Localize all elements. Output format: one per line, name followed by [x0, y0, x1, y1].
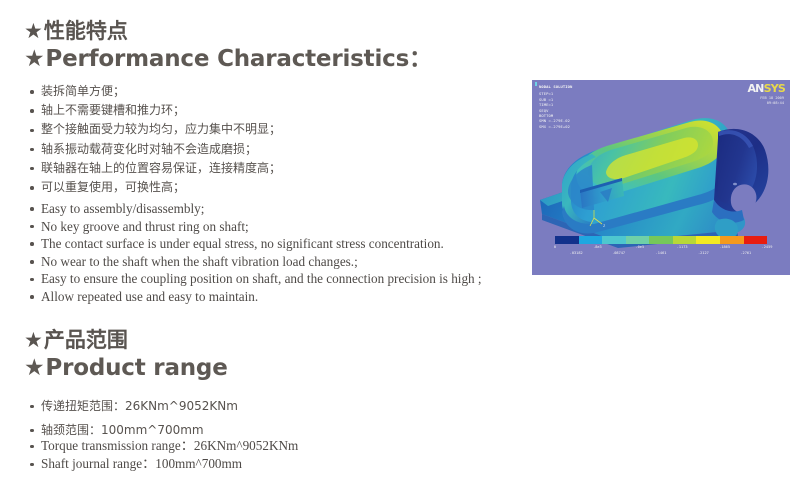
list-item: 传递扭矩范围：26KNm^9052KNm [30, 394, 238, 418]
colorbar-tick-labels: 0.8e3.0e5.1173.1865.2459.03182.08747.146… [555, 244, 767, 258]
ansys-logo-part2: SYS [764, 82, 785, 95]
bullet-dot-icon [30, 207, 34, 211]
colorbar-band [626, 236, 650, 244]
colorbar-band [579, 236, 603, 244]
list-item: 轴上不需要键槽和推力环； [30, 101, 281, 120]
section-heading-product-range: ★产品范围 ★Product range [24, 327, 228, 383]
colorbar-tick: .08747 [612, 251, 625, 255]
list-item: The contact surface is under equal stres… [30, 235, 482, 253]
list-item: 联轴器在轴上的位置容易保证，连接精度高； [30, 159, 281, 178]
bullet-dot-icon [30, 405, 34, 409]
heading-performance-en-text: Performance Characteristics： [45, 46, 431, 72]
figure-timestamp: FEB 18 2009 09:08:44 [760, 96, 784, 106]
list-item-text: The contact surface is under equal stres… [41, 236, 444, 251]
list-item: 装拆简单方便； [30, 82, 281, 101]
bullet-dot-icon [30, 278, 34, 282]
bullet-dot-icon [30, 129, 34, 133]
list-item-text: Shaft journal range：100mm^700mm [41, 456, 242, 471]
list-item-text: 轴颈范围：100mm^700mm [41, 423, 204, 437]
list-item: Easy to assembly/disassembly; [30, 200, 482, 218]
bullet-dot-icon [30, 167, 34, 171]
figure-corner-mark [535, 82, 537, 86]
list-item-text: 装拆简单方便； [41, 84, 125, 98]
list-item-text: Easy to assembly/disassembly; [41, 201, 204, 216]
colorbar-band [649, 236, 673, 244]
bullet-dot-icon [30, 463, 34, 467]
heading-product-range-cn: ★产品范围 [24, 327, 228, 353]
colorbar-band [673, 236, 697, 244]
list-item: Shaft journal range：100mm^700mm [30, 455, 298, 473]
star-icon: ★ [24, 44, 44, 74]
list-item-text: No key groove and thrust ring on shaft; [41, 219, 249, 234]
ansys-logo: ANSYS [747, 83, 785, 94]
colorbar-band [744, 236, 768, 244]
colorbar-tick: .1461 [656, 251, 667, 255]
colorbar-tick: .1865 [719, 245, 730, 249]
colorbar-band [602, 236, 626, 244]
list-item: No wear to the shaft when the shaft vibr… [30, 253, 482, 271]
list-item-text: 整个接触面受力较为均匀，应力集中不明显； [41, 122, 281, 136]
bullet-dot-icon [30, 429, 34, 433]
performance-bullets-en: Easy to assembly/disassembly; No key gro… [30, 200, 482, 306]
list-item: 轴系振动载荷变化时对轴不会造成磨损； [30, 140, 281, 159]
star-icon: ★ [24, 353, 44, 383]
colorbar-tick: .2127 [698, 251, 709, 255]
colorbar-tick: 0 [554, 245, 556, 249]
colorbar-band [555, 236, 579, 244]
bullet-dot-icon [30, 148, 34, 152]
list-item-text: 可以重复使用，可换性高； [41, 180, 185, 194]
figure-header-info: NODAL SOLUTION STEP=1 SUB =1 TIME=1 SEQV… [539, 84, 572, 129]
list-item-text: 传递扭矩范围：26KNm^9052KNm [41, 399, 238, 413]
section-heading-performance: ★性能特点 ★Performance Characteristics： [24, 18, 432, 74]
colorbar-tick: .1173 [677, 245, 688, 249]
list-item: No key groove and thrust ring on shaft; [30, 218, 482, 236]
heading-performance-cn-text: 性能特点 [44, 19, 128, 43]
figure-header-title: NODAL SOLUTION [539, 84, 572, 89]
ansys-logo-part1: AN [747, 82, 763, 95]
list-item-text: Easy to ensure the coupling position on … [41, 271, 482, 286]
bullet-dot-icon [30, 90, 34, 94]
colorbar-strip [555, 236, 767, 244]
list-item: Torque transmission range：26KNm^9052KNm [30, 437, 298, 455]
star-icon: ★ [24, 327, 43, 353]
colorbar-tick: .2459 [762, 245, 773, 249]
heading-product-range-en-text: Product range [45, 355, 227, 381]
list-item: Allow repeated use and easy to maintain. [30, 288, 482, 306]
page-root: ★性能特点 ★Performance Characteristics： 装拆简单… [0, 0, 811, 477]
colorbar-tick: .0e5 [635, 245, 644, 249]
list-item-text: 联轴器在轴上的位置容易保证，连接精度高； [41, 161, 281, 175]
list-item: 整个接触面受力较为均匀，应力集中不明显； [30, 120, 281, 139]
bullet-dot-icon [30, 295, 34, 299]
bullet-dot-icon [30, 242, 34, 246]
list-item: 可以重复使用，可换性高； [30, 178, 281, 197]
bullet-dot-icon [30, 445, 34, 449]
star-icon: ★ [24, 18, 43, 44]
figure-meta-line: 09:08:44 [760, 101, 784, 106]
colorbar-tick: .8e3 [593, 245, 602, 249]
bullet-dot-icon [30, 225, 34, 229]
product-range-bullets-cn: 传递扭矩范围：26KNm^9052KNm 轴颈范围：100mm^700mm [30, 394, 238, 442]
performance-bullets-cn: 装拆简单方便； 轴上不需要键槽和推力环； 整个接触面受力较为均匀，应力集中不明显… [30, 82, 281, 197]
colorbar-tick: .2761 [740, 251, 751, 255]
figure-header-line: SMX =.279E+02 [539, 124, 572, 129]
list-item-text: Allow repeated use and easy to maintain. [41, 289, 258, 304]
list-item-text: 轴上不需要键槽和推力环； [41, 103, 185, 117]
heading-performance-en: ★Performance Characteristics： [24, 44, 432, 74]
heading-product-range-en: ★Product range [24, 353, 228, 383]
list-item-text: 轴系振动载荷变化时对轴不会造成磨损； [41, 142, 257, 156]
colorbar-band [720, 236, 744, 244]
bullet-dot-icon [30, 186, 34, 190]
heading-product-range-cn-text: 产品范围 [44, 328, 128, 352]
product-range-bullets-en: Torque transmission range：26KNm^9052KNm … [30, 437, 298, 473]
colorbar-band [696, 236, 720, 244]
list-item-text: No wear to the shaft when the shaft vibr… [41, 254, 358, 269]
bullet-dot-icon [30, 109, 34, 113]
figure-colorbar: 0.8e3.0e5.1173.1865.2459.03182.08747.146… [555, 236, 767, 258]
colorbar-tick: .03182 [570, 251, 583, 255]
list-item-text: Torque transmission range：26KNm^9052KNm [41, 438, 298, 453]
figure-canvas: Z NODAL SOLUTION STEP=1 SUB =1 TIME=1 SE… [532, 80, 790, 275]
heading-performance-cn: ★性能特点 [24, 18, 432, 44]
bullet-dot-icon [30, 260, 34, 264]
list-item: Easy to ensure the coupling position on … [30, 270, 482, 288]
ansys-fea-figure: Z NODAL SOLUTION STEP=1 SUB =1 TIME=1 SE… [532, 80, 790, 275]
